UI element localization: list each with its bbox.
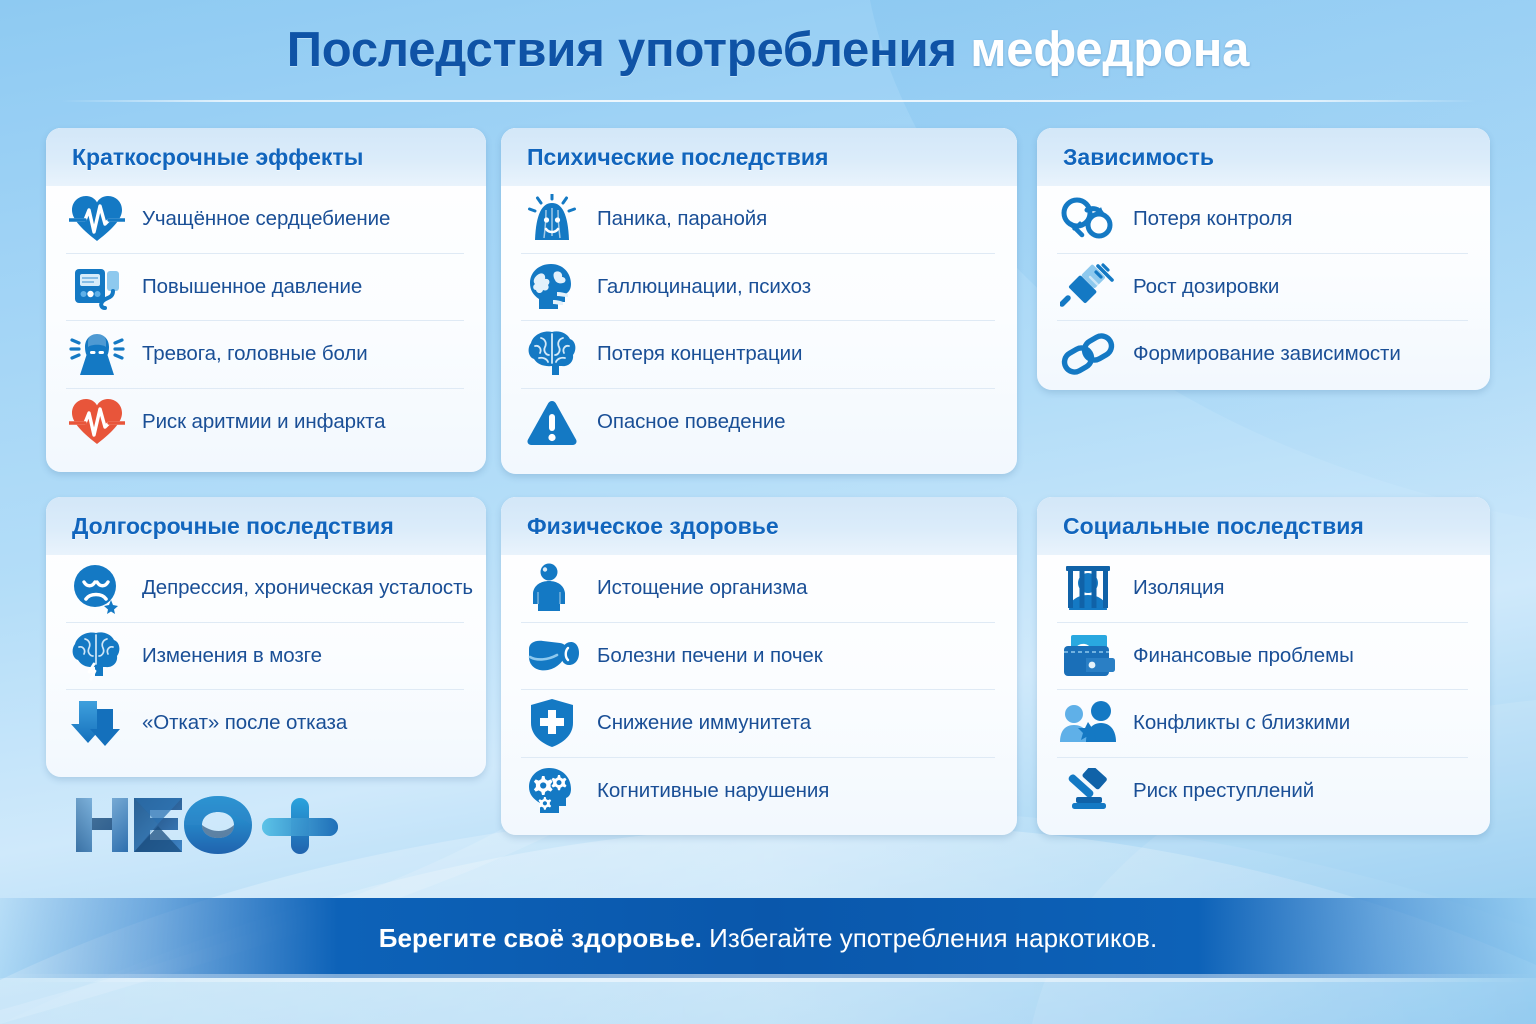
footer-banner: Берегите своё здоровье. Избегайте употре… <box>0 898 1536 978</box>
list-item-label: Риск преступлений <box>1133 779 1314 803</box>
card-header: Социальные последствия <box>1037 497 1490 555</box>
list-item-label: Опасное поведение <box>597 410 785 434</box>
list-item[interactable]: Повышенное давление <box>66 254 464 322</box>
list-item-label: «Откат» после отказа <box>142 711 347 735</box>
list-item-label: Финансовые проблемы <box>1133 644 1354 668</box>
card-header: Физическое здоровье <box>501 497 1017 555</box>
card-body: Депрессия, хроническая усталость Изменен… <box>46 555 486 757</box>
card-title: Социальные последствия <box>1063 513 1364 540</box>
handcuffs-icon <box>1057 188 1119 250</box>
card-title: Психические последствия <box>527 144 828 171</box>
list-item-label: Болезни печени и почек <box>597 644 823 668</box>
head-gears-icon <box>521 760 583 822</box>
page-title-accent: мефедрона <box>970 23 1249 77</box>
card-physical-health: Физическое здоровье Истощение организма <box>501 497 1017 835</box>
conflict-people-icon <box>1057 692 1119 754</box>
headache-person-icon <box>66 323 128 385</box>
list-item[interactable]: Галлюцинации, психоз <box>521 254 995 322</box>
list-item[interactable]: Когнитивные нарушения <box>521 758 995 825</box>
list-item-label: Снижение иммунитета <box>597 711 811 735</box>
list-item[interactable]: Конфликты с близкими <box>1057 690 1468 758</box>
card-header: Психические последствия <box>501 128 1017 186</box>
list-item-label: Конфликты с близкими <box>1133 711 1350 735</box>
blood-pressure-monitor-icon <box>66 256 128 318</box>
list-item-label: Тревога, головные боли <box>142 342 368 366</box>
list-item-label: Учащённое сердцебиение <box>142 207 390 231</box>
list-item[interactable]: «Откат» после отказа <box>66 690 464 757</box>
list-item-label: Потеря концентрации <box>597 342 802 366</box>
list-item[interactable]: Финансовые проблемы <box>1057 623 1468 691</box>
list-item-label: Рост дозировки <box>1133 275 1279 299</box>
panic-face-icon <box>521 188 583 250</box>
liver-kidney-icon <box>521 625 583 687</box>
list-item[interactable]: Риск аритмии и инфаркта <box>66 389 464 456</box>
title-divider <box>60 100 1476 102</box>
page-header: Последствия употребления мефедрона <box>0 0 1536 108</box>
card-title: Зависимость <box>1063 144 1214 171</box>
card-long-term-consequences: Долгосрочные последствия Депрессия, хрон… <box>46 497 486 777</box>
list-item-label: Депрессия, хроническая усталость <box>142 576 473 600</box>
list-item[interactable]: Истощение организма <box>521 555 995 623</box>
list-item[interactable]: Паника, паранойя <box>521 186 995 254</box>
card-dependence: Зависимость Потеря контроля <box>1037 128 1490 390</box>
list-item-label: Истощение организма <box>597 576 807 600</box>
list-item[interactable]: Формирование зависимости <box>1057 321 1468 388</box>
list-item-label: Потеря контроля <box>1133 207 1292 231</box>
list-item-label: Риск аритмии и инфаркта <box>142 410 385 434</box>
card-short-term-effects: Краткосрочные эффекты Учащённое сердцеби… <box>46 128 486 472</box>
shield-cross-icon <box>521 692 583 754</box>
list-item[interactable]: Опасное поведение <box>521 389 995 456</box>
card-body: Потеря контроля Рост дозировки <box>1037 186 1490 388</box>
wallet-icon <box>1057 625 1119 687</box>
neo-plus-logo <box>66 790 346 858</box>
list-item[interactable]: Тревога, головные боли <box>66 321 464 389</box>
syringe-icon <box>1057 256 1119 318</box>
brain-icon <box>521 323 583 385</box>
gavel-icon <box>1057 760 1119 822</box>
list-item-label: Изменения в мозге <box>142 644 322 668</box>
list-item-label: Галлюцинации, психоз <box>597 275 811 299</box>
card-header: Долгосрочные последствия <box>46 497 486 555</box>
list-item-label: Паника, паранойя <box>597 207 767 231</box>
list-item-label: Изоляция <box>1133 576 1224 600</box>
card-social-consequences: Социальные последствия Изоляция <box>1037 497 1490 835</box>
card-mental-consequences: Психические последствия Паника, паранойя <box>501 128 1017 474</box>
list-item[interactable]: Учащённое сердцебиение <box>66 186 464 254</box>
down-arrows-icon <box>66 692 128 754</box>
list-item-label: Повышенное давление <box>142 275 362 299</box>
hallucination-head-icon <box>521 256 583 318</box>
card-body: Паника, паранойя Галлюцинации, психоз <box>501 186 1017 455</box>
card-header: Зависимость <box>1037 128 1490 186</box>
heart-attack-icon <box>66 391 128 453</box>
prison-bars-person-icon <box>1057 557 1119 619</box>
footer-bold-text: Берегите своё здоровье. <box>379 923 702 953</box>
card-body: Изоляция Финансовые проблемы <box>1037 555 1490 824</box>
list-item-label: Формирование зависимости <box>1133 342 1401 366</box>
card-title: Физическое здоровье <box>527 513 779 540</box>
card-title: Краткосрочные эффекты <box>72 144 363 171</box>
list-item[interactable]: Изменения в мозге <box>66 623 464 691</box>
sad-face-icon <box>66 557 128 619</box>
page-title-main: Последствия употребления <box>287 23 957 77</box>
warning-triangle-icon <box>521 391 583 453</box>
list-item[interactable]: Потеря контроля <box>1057 186 1468 254</box>
list-item[interactable]: Снижение иммунитета <box>521 690 995 758</box>
list-item[interactable]: Рост дозировки <box>1057 254 1468 322</box>
list-item[interactable]: Изоляция <box>1057 555 1468 623</box>
chain-link-icon <box>1057 323 1119 385</box>
footer-regular-text: Избегайте употребления наркотиков. <box>709 923 1157 953</box>
list-item[interactable]: Потеря концентрации <box>521 321 995 389</box>
card-body: Учащённое сердцебиение Повышенное давлен… <box>46 186 486 455</box>
list-item[interactable]: Риск преступлений <box>1057 758 1468 825</box>
card-header: Краткосрочные эффекты <box>46 128 486 186</box>
heart-pulse-icon <box>66 188 128 250</box>
page-title: Последствия употребления мефедрона <box>0 22 1536 78</box>
card-body: Истощение организма Болезни печени и поч… <box>501 555 1017 824</box>
footer-message: Берегите своё здоровье. Избегайте употре… <box>379 923 1157 954</box>
thin-person-icon <box>521 557 583 619</box>
list-item-label: Когнитивные нарушения <box>597 779 829 803</box>
list-item[interactable]: Депрессия, хроническая усталость <box>66 555 464 623</box>
list-item[interactable]: Болезни печени и почек <box>521 623 995 691</box>
brain-damage-icon <box>66 625 128 687</box>
card-title: Долгосрочные последствия <box>72 513 394 540</box>
